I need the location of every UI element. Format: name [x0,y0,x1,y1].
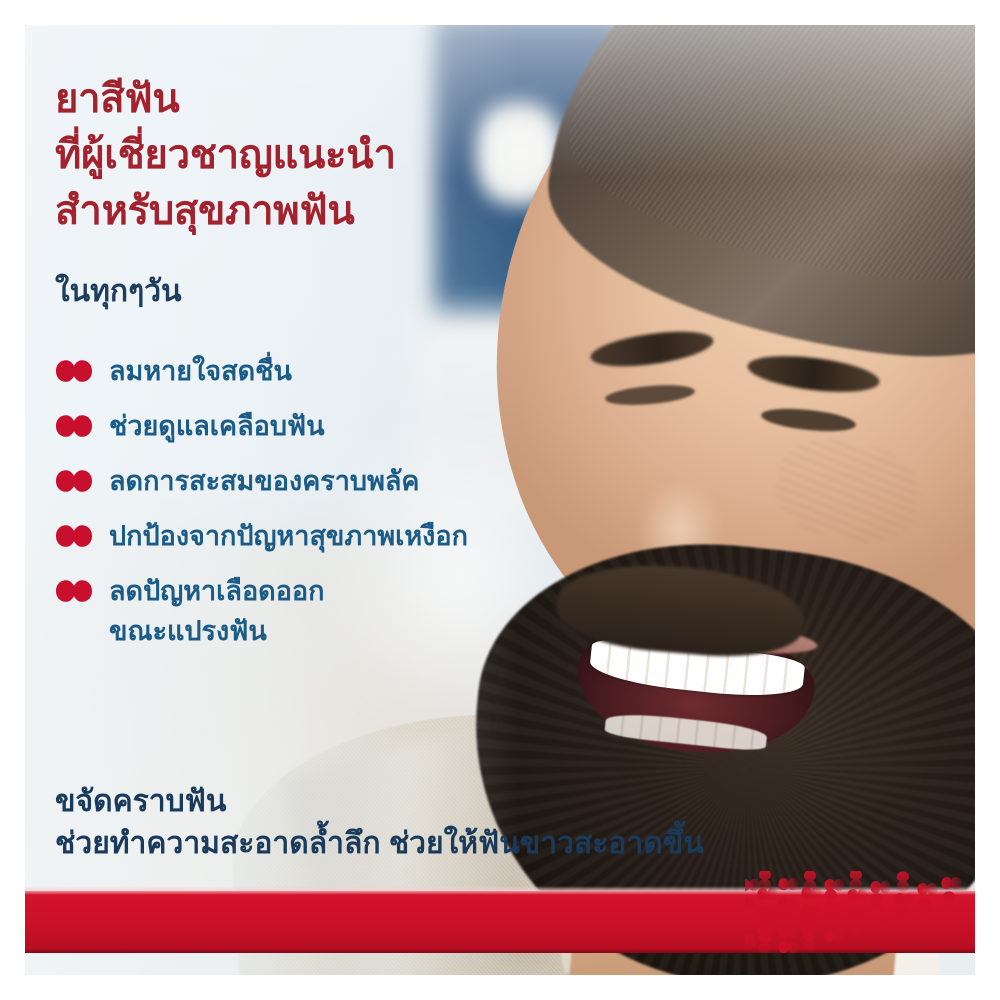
headline-line-2: ที่ผู้เชี่ยวชาญแนะนำ [55,127,396,183]
closing-statement: ขจัดคราบฟัน ช่วยทำความสะอาดล้ำลึก ช่วยให… [55,781,704,865]
dumbbell-bullet-icon [55,469,93,493]
list-item: ช่วยดูแลเคลือบฟัน [55,398,525,453]
dumbbell-bullet-icon [55,579,93,603]
advertisement-root: ยาสีฟัน ที่ผู้เชี่ยวชาญแนะนำ สำหรับสุขภา… [0,0,1000,1000]
headline-line-3: สำหรับสุขภาพฟัน [55,183,396,239]
benefit-label: ปกป้องจากปัญหาสุขภาพเหงือก [109,521,468,551]
list-item: ปกป้องจากปัญหาสุขภาพเหงือก [55,508,525,563]
dumbbell-bullet-icon [55,359,93,383]
list-item: ลมหายใจสดชื่น [55,343,525,398]
benefit-label: ลดปัญหาเลือดออก [109,576,325,606]
subheadline: ในทุกๆวัน [55,273,182,311]
dumbbell-bullet-icon [55,524,93,548]
headline: ยาสีฟัน ที่ผู้เชี่ยวชาญแนะนำ สำหรับสุขภา… [55,71,396,239]
ad-canvas: ยาสีฟัน ที่ผู้เชี่ยวชาญแนะนำ สำหรับสุขภา… [25,25,975,975]
closing-line-1: ขจัดคราบฟัน [55,781,704,823]
benefit-label-continuation: ขณะแปรงฟัน [109,616,525,646]
benefit-label: ลมหายใจสดชื่น [109,356,292,386]
red-footer-bar [25,891,975,953]
bar-bottom-shade [25,948,975,953]
closing-line-2: ช่วยทำความสะอาดล้ำลึก ช่วยให้ฟันขาวสะอาด… [55,823,704,865]
ad-content: ยาสีฟัน ที่ผู้เชี่ยวชาญแนะนำ สำหรับสุขภา… [25,25,975,975]
benefit-list: ลมหายใจสดชื่น ช่วยดูแลเคลือบฟัน [55,343,525,646]
list-item: ลดปัญหาเลือดออก [55,563,525,618]
dumbbell-bullet-icon [55,414,93,438]
benefit-label: ช่วยดูแลเคลือบฟัน [109,411,325,441]
headline-line-1: ยาสีฟัน [55,71,396,127]
benefit-label: ลดการสะสมของคราบพลัค [109,466,419,496]
list-item: ลดการสะสมของคราบพลัค [55,453,525,508]
bar-sheen [25,891,975,895]
